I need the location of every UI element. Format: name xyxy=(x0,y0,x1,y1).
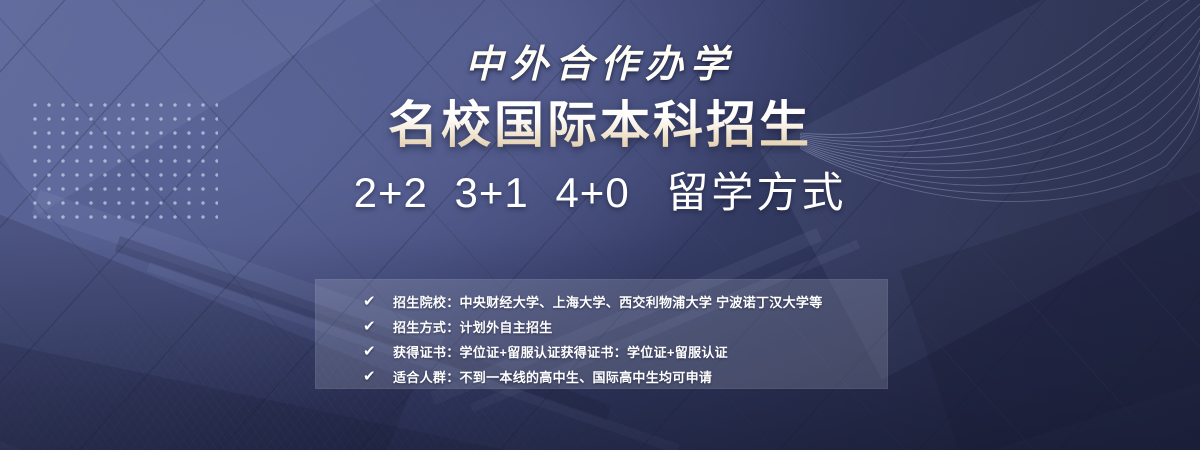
check-icon: ✔ xyxy=(363,369,393,384)
info-item-text: 招生院校：中央财经大学、上海大学、西交利物浦大学 宁波诺丁汉大学等 xyxy=(393,292,823,311)
program-mode-1: 2+2 xyxy=(354,169,428,216)
headline-block: 中外合作办学 名校国际本科招生 2+2 3+1 4+0 留学方式 xyxy=(0,44,1200,217)
program-mode-3: 4+0 xyxy=(555,169,629,216)
program-modes-line: 2+2 3+1 4+0 留学方式 xyxy=(0,168,1200,218)
check-icon: ✔ xyxy=(363,294,393,309)
info-list-item: ✔ 适合人群：不到一本线的高中生、国际高中生均可申请 xyxy=(363,364,878,388)
info-list-item: ✔ 获得证书：学位证+留服认证获得证书：学位证+留服认证 xyxy=(363,339,878,363)
info-list-item: ✔ 招生方式：计划外自主招生 xyxy=(363,314,878,338)
script-headline: 中外合作办学 xyxy=(0,44,1200,88)
check-icon: ✔ xyxy=(363,319,393,334)
promo-banner: 中外合作办学 名校国际本科招生 2+2 3+1 4+0 留学方式 ✔ 招生院校：… xyxy=(0,0,1200,450)
info-list-item: ✔ 招生院校：中央财经大学、上海大学、西交利物浦大学 宁波诺丁汉大学等 xyxy=(363,289,878,313)
info-list: ✔ 招生院校：中央财经大学、上海大学、西交利物浦大学 宁波诺丁汉大学等 ✔ 招生… xyxy=(363,289,878,389)
program-suffix: 留学方式 xyxy=(666,169,846,216)
check-icon: ✔ xyxy=(363,344,393,359)
info-panel: ✔ 招生院校：中央财经大学、上海大学、西交利物浦大学 宁波诺丁汉大学等 ✔ 招生… xyxy=(315,279,888,389)
info-item-text: 招生方式：计划外自主招生 xyxy=(393,317,553,336)
info-item-text: 适合人群：不到一本线的高中生、国际高中生均可申请 xyxy=(393,367,712,386)
program-mode-2: 3+1 xyxy=(455,169,529,216)
main-headline: 名校国际本科招生 xyxy=(0,96,1200,154)
info-item-text: 获得证书：学位证+留服认证获得证书：学位证+留服认证 xyxy=(393,342,728,361)
